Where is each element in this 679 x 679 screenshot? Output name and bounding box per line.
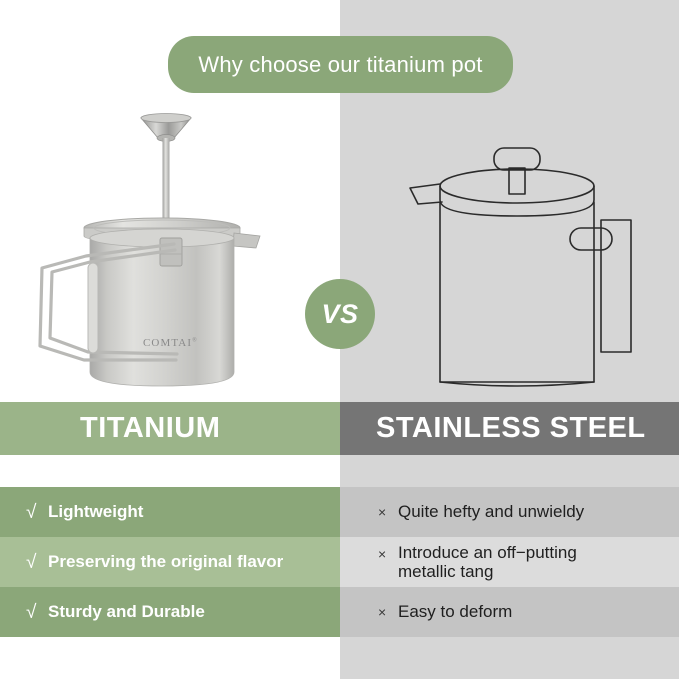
comparison-infographic: Why choose our titanium pot xyxy=(0,0,679,679)
handle-grip xyxy=(88,263,98,353)
brand-mark: COMTAI® xyxy=(143,337,198,349)
cross-icon: × xyxy=(378,605,398,619)
stainless-steel-press-image xyxy=(398,140,648,392)
list-item: × Quite hefty and unwieldy xyxy=(340,487,679,537)
cross-icon: × xyxy=(378,547,398,561)
stainless-steel-label: STAINLESS STEEL xyxy=(376,412,646,445)
check-icon: √ xyxy=(26,553,48,572)
list-item: √ Preserving the original flavor xyxy=(0,537,340,587)
feature-text: Easy to deform xyxy=(398,602,512,621)
list-item: × Introduce an off−putting metallic tang xyxy=(340,537,679,587)
press-body xyxy=(440,202,594,386)
plunger-knob xyxy=(141,114,191,142)
stainless-steel-feature-list: × Quite hefty and unwieldy × Introduce a… xyxy=(340,487,679,637)
titanium-pot-image xyxy=(28,108,296,393)
vs-label: VS xyxy=(321,299,358,330)
feature-text: Preserving the original flavor xyxy=(48,552,283,572)
list-item: √ Lightweight xyxy=(0,487,340,537)
feature-text: Sturdy and Durable xyxy=(48,602,205,622)
press-handle xyxy=(570,220,631,352)
titanium-feature-list: √ Lightweight √ Preserving the original … xyxy=(0,487,340,637)
pot-spout xyxy=(233,233,260,248)
press-knob xyxy=(494,148,540,194)
vs-badge: VS xyxy=(305,279,375,349)
header-banner: Why choose our titanium pot xyxy=(168,36,513,93)
feature-text: Introduce an off−putting metallic tang xyxy=(398,543,623,581)
titanium-label: TITANIUM xyxy=(80,412,220,445)
list-item: × Easy to deform xyxy=(340,587,679,637)
check-icon: √ xyxy=(26,503,48,522)
cross-icon: × xyxy=(378,505,398,519)
feature-text: Quite hefty and unwieldy xyxy=(398,502,584,521)
brand-registered-symbol: ® xyxy=(192,337,198,343)
check-icon: √ xyxy=(26,603,48,622)
feature-text: Lightweight xyxy=(48,502,143,522)
plunger-rod xyxy=(163,138,170,230)
brand-name: COMTAI xyxy=(143,337,192,349)
stainless-steel-label-bar: STAINLESS STEEL xyxy=(340,402,679,455)
press-spout xyxy=(410,184,442,204)
header-banner-text: Why choose our titanium pot xyxy=(198,52,482,78)
press-lid xyxy=(440,169,594,216)
titanium-label-bar: TITANIUM xyxy=(0,402,340,455)
list-item: √ Sturdy and Durable xyxy=(0,587,340,637)
